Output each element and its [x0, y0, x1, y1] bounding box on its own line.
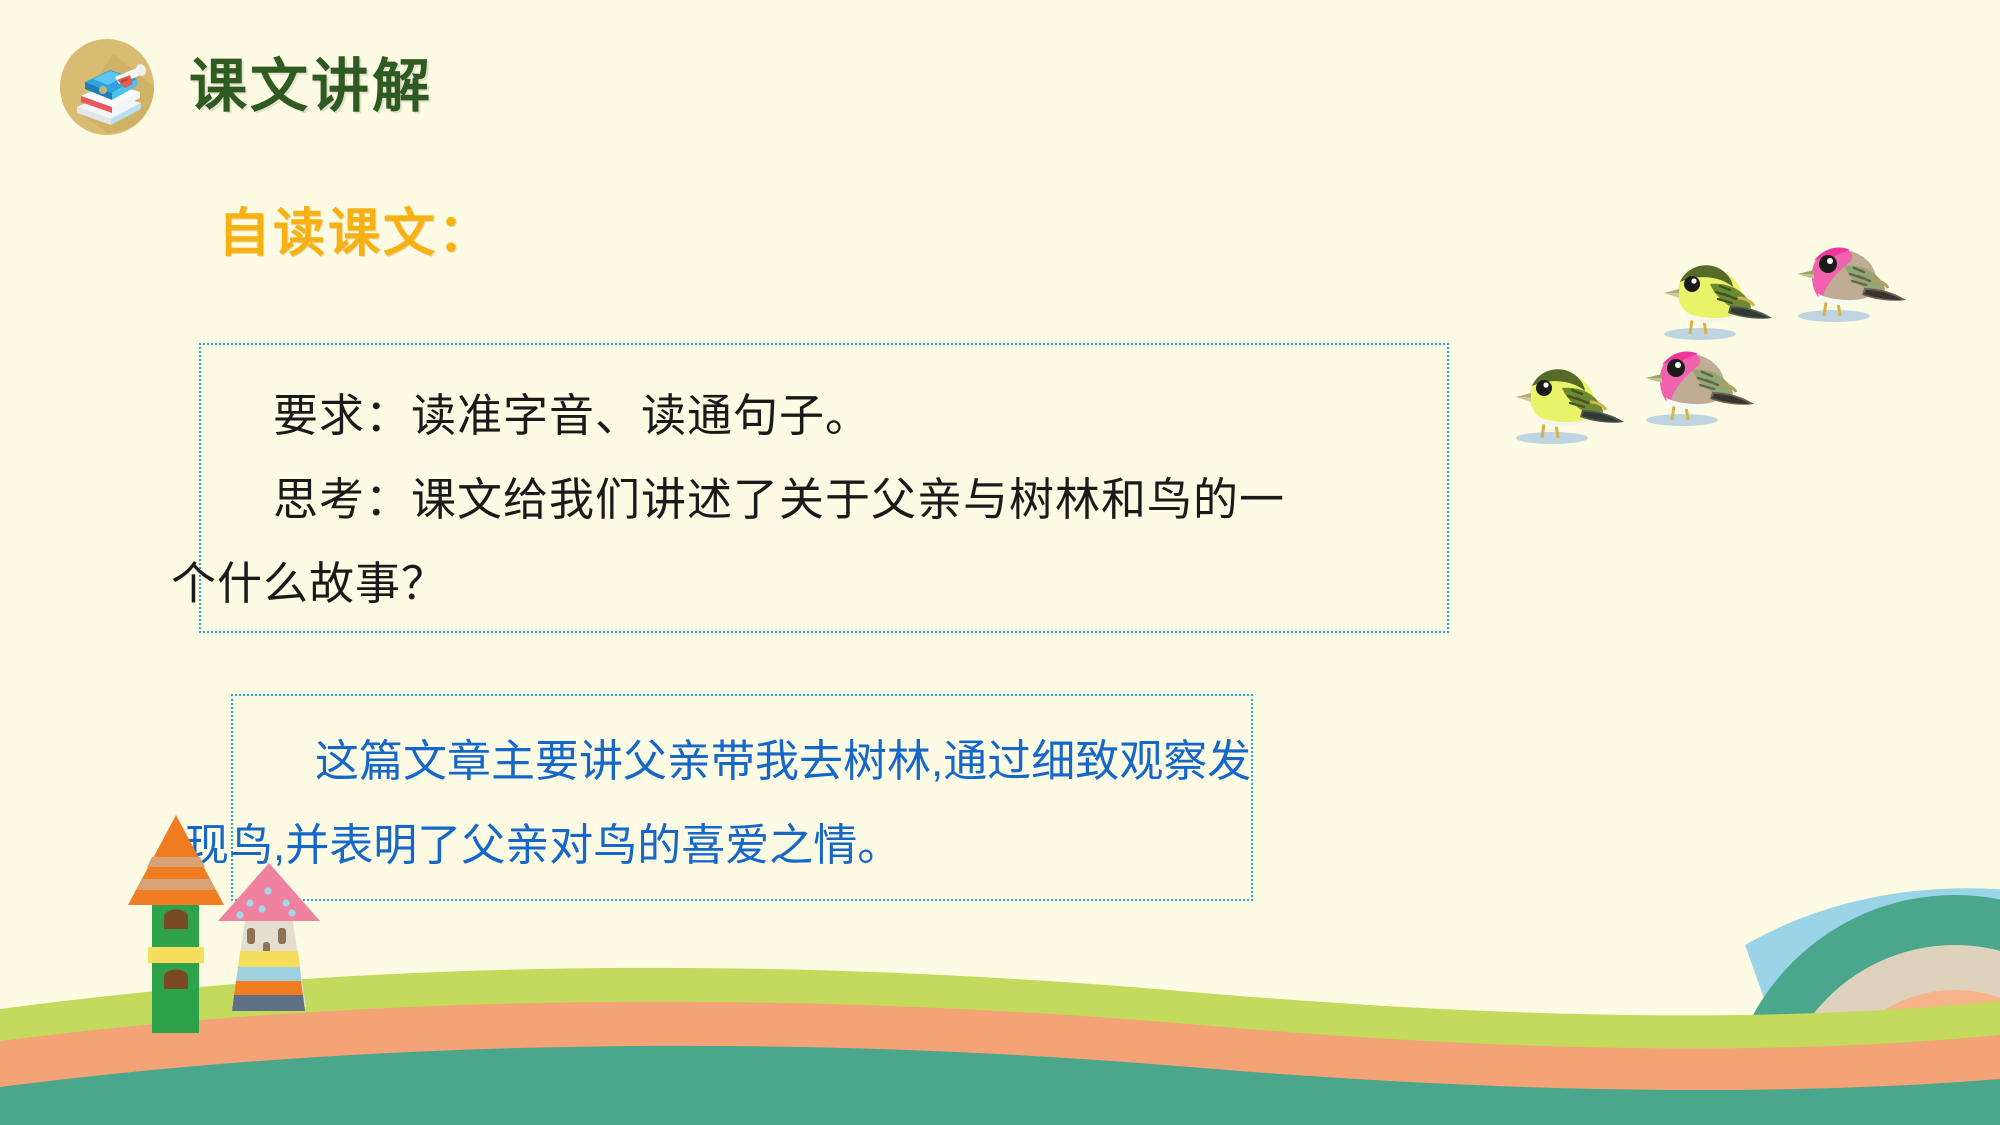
concentric-arcs: [1725, 895, 2000, 1125]
task-line-requirement: 要求：读准字音、读通句子。: [273, 393, 871, 438]
task-line-question-part1: 思考：课文给我们讲述了关于父亲与树林和鸟的一: [273, 477, 1285, 522]
page-title: 课文讲解: [189, 58, 433, 116]
arc-skyblue: [1745, 888, 2000, 1009]
books-diploma-icon: [55, 35, 159, 139]
hill-peach: [0, 1002, 2000, 1125]
arc-brown: [1868, 1038, 2000, 1125]
arc-peach: [1820, 990, 2000, 1125]
bird-rosefinch-mid: [1646, 351, 1754, 426]
slide-canvas: 课文讲解 自读课文： 要求：读准字音、读通句子。 思考：课文给我们讲述了关于父亲…: [0, 0, 2000, 1125]
hill-teal: [0, 1046, 2000, 1125]
slide-header: 课文讲解: [55, 35, 433, 139]
task-instruction-box: 要求：读准字音、读通句子。 思考：课文给我们讲述了关于父亲与树林和鸟的一 个什么…: [199, 343, 1449, 633]
birds-decoration-group: [1500, 230, 1930, 470]
arc-periwinkle: [1800, 958, 2000, 1075]
section-subtitle: 自读课文：: [218, 208, 493, 260]
hill-lightgreen: [0, 968, 2000, 1125]
rainbow-arcs: [1725, 888, 2000, 1125]
answer-summary-box: 这篇文章主要讲父亲带我去树林,通过细致观察发 现鸟,并表明了父亲对鸟的喜爱之情。: [231, 694, 1253, 901]
bird-siskin-left: [1516, 369, 1624, 444]
arc-green: [1725, 895, 2000, 1125]
task-line-question-part2: 个什么故事？: [171, 561, 447, 606]
answer-line-1: 这篇文章主要讲父亲带我去树林,通过细致观察发: [315, 740, 1251, 784]
bird-siskin-top: [1664, 265, 1772, 340]
answer-line-2: 现鸟,并表明了父亲对鸟的喜爱之情。: [185, 824, 901, 868]
bird-rosefinch-top: [1798, 247, 1906, 322]
arc-cream: [1775, 945, 2000, 1125]
